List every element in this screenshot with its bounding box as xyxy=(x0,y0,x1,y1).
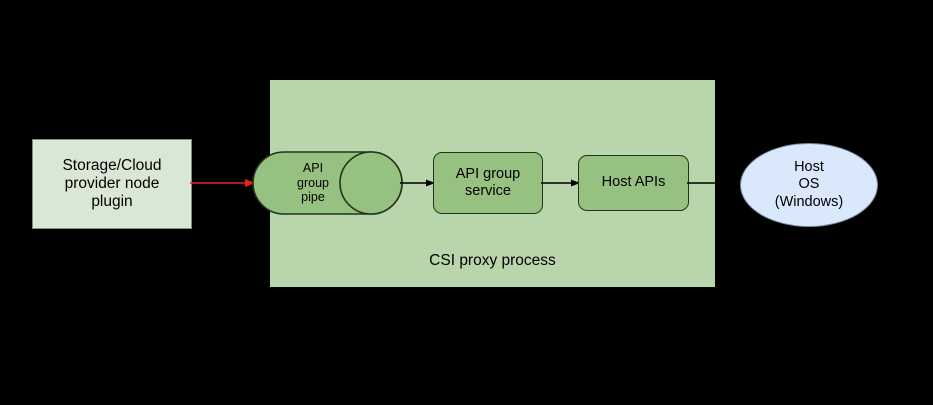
storage-cloud-provider-node-plugin-box[interactable] xyxy=(32,139,192,229)
diagram-canvas: CSI proxy process Storage/Cloud provider… xyxy=(0,0,933,405)
edge-plugin-to-pipe xyxy=(190,172,256,194)
host-os-ellipse[interactable] xyxy=(740,143,878,227)
host-apis-box[interactable] xyxy=(578,155,689,211)
api-group-service-box[interactable] xyxy=(433,152,543,214)
api-group-pipe-shape[interactable] xyxy=(252,151,403,215)
